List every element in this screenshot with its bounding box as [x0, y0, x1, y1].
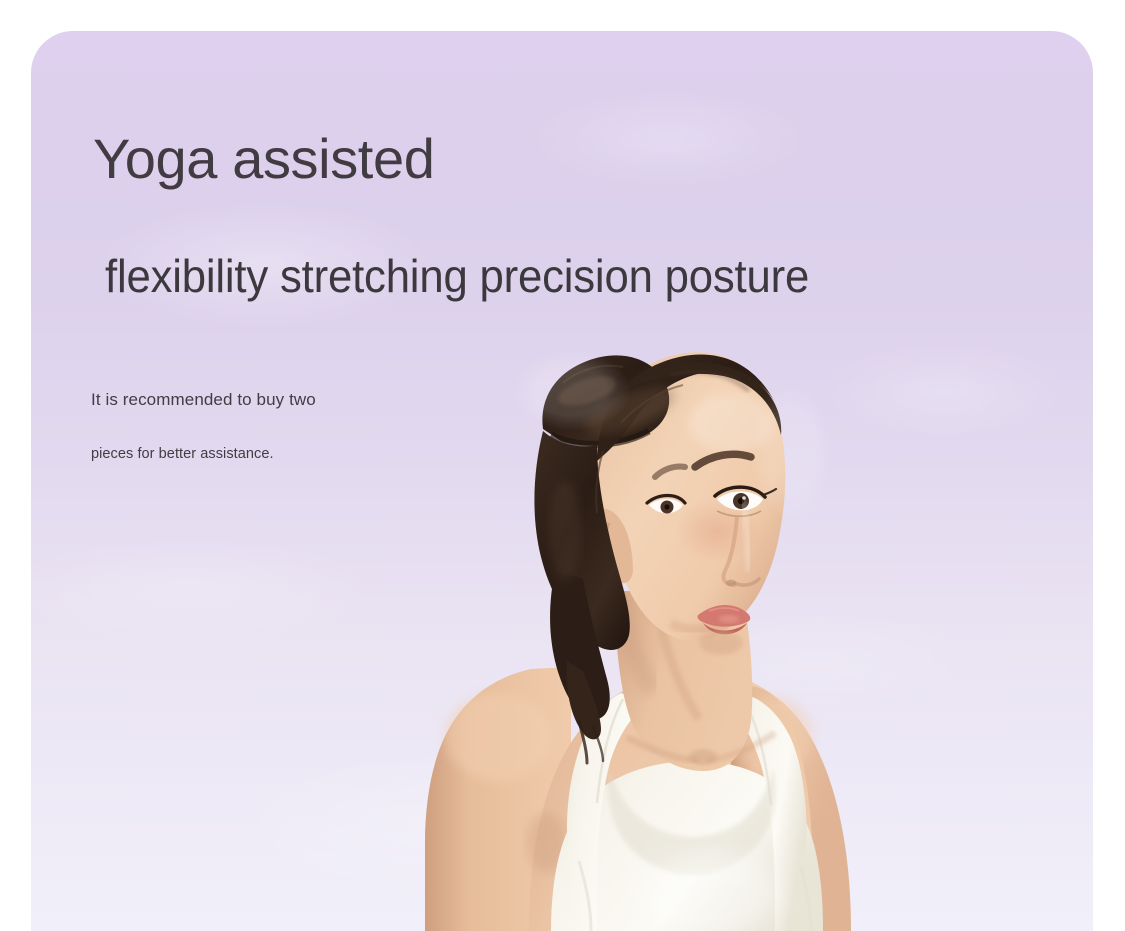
recommendation-text-line-1: It is recommended to buy two	[91, 390, 316, 410]
model-lips	[698, 605, 751, 634]
yoga-promo-card: Yoga assisted flexibility stretching pre…	[31, 31, 1093, 931]
banner-root: Yoga assisted flexibility stretching pre…	[0, 0, 1125, 931]
model-torso	[425, 667, 851, 931]
model-hair	[534, 354, 781, 763]
subtitle: flexibility stretching precision posture	[105, 249, 809, 304]
tank-top	[551, 693, 823, 931]
model-neck	[615, 591, 775, 771]
page-title: Yoga assisted	[93, 127, 434, 191]
photo-edge-blend	[511, 351, 831, 521]
model-ear	[591, 509, 633, 584]
recommendation-text-line-2: pieces for better assistance.	[91, 445, 274, 462]
model-eye-far	[647, 496, 685, 514]
model-eye-near	[715, 487, 776, 516]
model-face	[591, 352, 786, 655]
